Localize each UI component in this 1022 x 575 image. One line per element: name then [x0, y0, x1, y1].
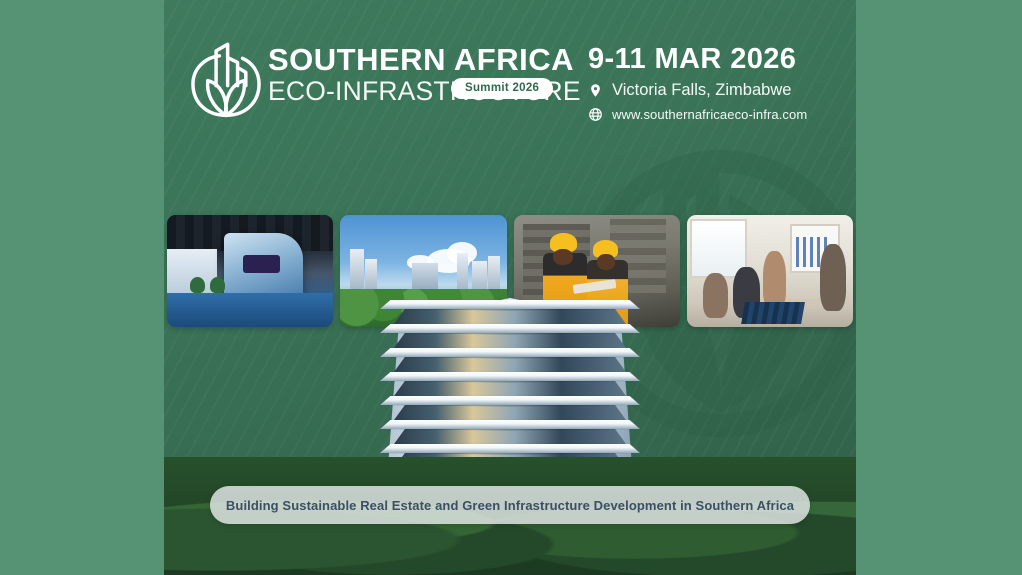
- event-venue-row: Victoria Falls, Zimbabwe: [588, 81, 838, 100]
- poster-header: SOUTHERN AFRICA ECO-INFRASTRUCTURE Summi…: [164, 0, 856, 165]
- tagline-banner: Building Sustainable Real Estate and Gre…: [210, 486, 810, 524]
- event-dates: 9-11 MAR 2026: [588, 44, 838, 74]
- left-margin-strip: [0, 0, 164, 575]
- tagline-text: Building Sustainable Real Estate and Gre…: [226, 498, 794, 513]
- hero-building-render: [164, 270, 856, 575]
- event-website-text: www.southernafricaeco-infra.com: [612, 107, 807, 122]
- event-poster: SOUTHERN AFRICA ECO-INFRASTRUCTURE Summi…: [164, 0, 856, 575]
- summit-year-badge: Summit 2026: [451, 78, 553, 99]
- poster-title-main: SOUTHERN AFRICA: [268, 44, 564, 75]
- right-margin-strip: [856, 0, 1022, 575]
- event-website-row[interactable]: www.southernafricaeco-infra.com: [588, 107, 838, 122]
- screenshot-canvas: SOUTHERN AFRICA ECO-INFRASTRUCTURE Summi…: [0, 0, 1022, 575]
- event-venue-text: Victoria Falls, Zimbabwe: [612, 81, 791, 100]
- globe-icon: [588, 107, 603, 122]
- map-pin-icon: [588, 83, 603, 98]
- summit-logo-icon: [188, 36, 264, 122]
- event-info-block: 9-11 MAR 2026 Victoria Falls, Zimbabwe: [588, 44, 838, 122]
